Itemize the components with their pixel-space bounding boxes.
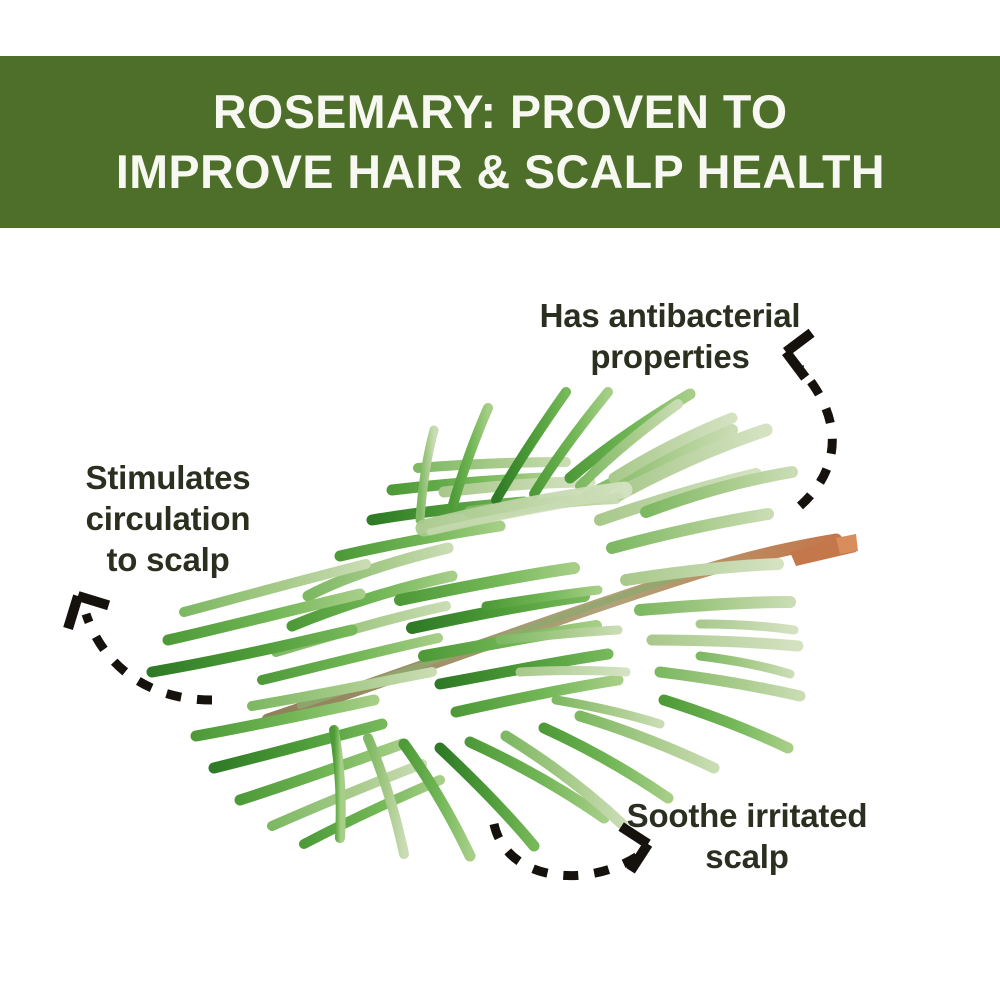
callout-soothe-line-1: Soothe irritated	[592, 796, 902, 837]
callout-antibacterial: Has antibacterial properties	[500, 296, 840, 378]
callout-antibacterial-line-1: Has antibacterial	[500, 296, 840, 337]
callout-circulation-line-3: to scalp	[48, 540, 288, 581]
infographic-canvas: ROSEMARY: PROVEN TO IMPROVE HAIR & SCALP…	[0, 0, 1000, 1000]
callout-antibacterial-line-2: properties	[500, 337, 840, 378]
callout-soothe: Soothe irritated scalp	[592, 796, 902, 878]
callout-circulation: Stimulates circulation to scalp	[48, 458, 288, 581]
callout-circulation-line-2: circulation	[48, 499, 288, 540]
callout-circulation-line-1: Stimulates	[48, 458, 288, 499]
callout-soothe-line-2: scalp	[592, 837, 902, 878]
